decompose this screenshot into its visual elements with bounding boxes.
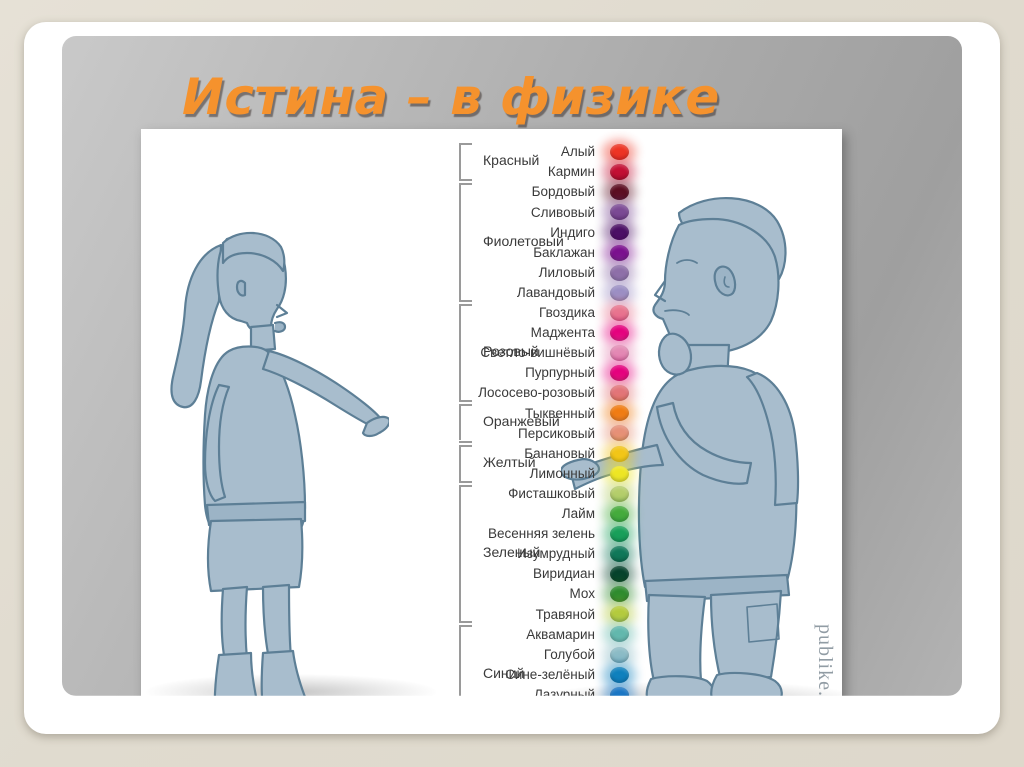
group-bracket-line [459,445,461,481]
group-bracket-tick [459,404,472,406]
color-group-label: Желтый [483,454,536,470]
color-group-label: Оранжевый [483,413,560,429]
color-group-label: Синий [483,665,524,681]
group-bracket-tick [459,621,472,623]
watermark-text: publike.ru [813,624,836,696]
group-bracket-line [459,183,461,300]
color-group-label: Зеленый [483,544,540,560]
group-bracket-tick [459,143,472,145]
group-bracket-tick [459,485,472,487]
color-group-label: Красный [483,152,539,168]
group-bracket-tick [459,179,472,181]
group-bracket-tick [459,400,472,402]
group-bracket-tick [459,183,472,185]
group-bracket-line [459,304,461,401]
page-title: Истина – в физике [182,68,720,126]
group-bracket-tick [459,445,472,447]
color-group-label: Фиолетовый [483,233,564,249]
slide-background: Истина – в физике [0,0,1024,767]
group-bracket-tick [459,481,472,483]
group-bracket-line [459,485,461,622]
group-bracket-line [459,404,461,440]
slide-card: Истина – в физике [24,22,1000,734]
slide-canvas: Истина – в физике [62,36,962,696]
color-group-label: Розовый [483,343,539,359]
group-bracket-tick [459,304,472,306]
group-bracket-line [459,143,461,179]
illustration-panel: АлыйКарминБордовыйСливовыйИндигоБаклажан… [141,129,842,696]
group-bracket-tick [459,625,472,627]
group-bracket-tick [459,441,472,443]
color-group-brackets: КрасныйФиолетовыйРозовыйОранжевыйЖелтыйЗ… [459,137,759,696]
group-bracket-tick [459,300,472,302]
group-bracket-line [459,625,461,696]
